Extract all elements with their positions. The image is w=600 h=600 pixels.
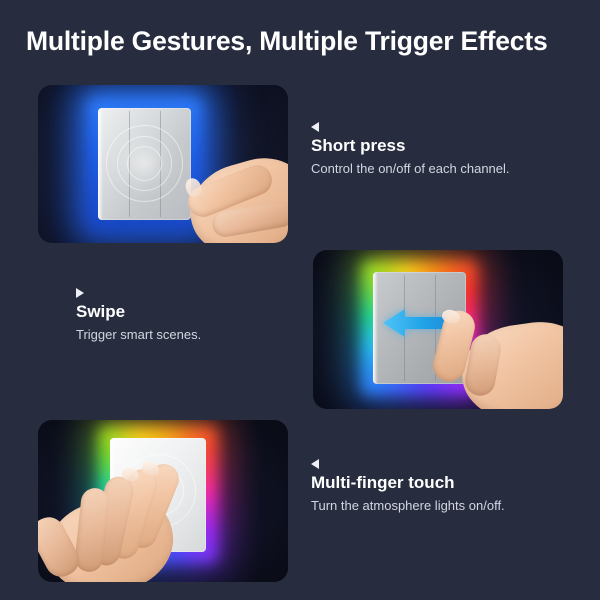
hand-whole <box>42 450 232 582</box>
feature-image-multi-finger-touch <box>38 420 288 582</box>
caption-multi-finger-touch: Multi-finger touch Turn the atmosphere l… <box>311 459 505 513</box>
feature-image-swipe <box>313 250 563 409</box>
caption-title: Swipe <box>76 302 201 322</box>
caption-title: Multi-finger touch <box>311 473 505 493</box>
caption-description: Control the on/off of each channel. <box>311 161 510 176</box>
caption-description: Trigger smart scenes. <box>76 327 201 342</box>
caption-swipe: Swipe Trigger smart scenes. <box>76 288 201 342</box>
triangle-left-icon <box>311 122 319 132</box>
page-title: Multiple Gestures, Multiple Trigger Effe… <box>26 26 548 57</box>
switch-scene-swipe <box>313 250 563 409</box>
hand-single-finger <box>416 288 563 409</box>
promo-page: Multiple Gestures, Multiple Trigger Effe… <box>0 0 600 600</box>
caption-description: Turn the atmosphere lights on/off. <box>311 498 505 513</box>
caption-title: Short press <box>311 136 510 156</box>
switch-scene-short-press <box>38 85 288 243</box>
switch-scene-multi-finger <box>38 420 288 582</box>
caption-short-press: Short press Control the on/off of each c… <box>311 122 510 176</box>
triangle-right-icon <box>76 288 84 298</box>
triangle-left-icon <box>311 459 319 469</box>
hand-single-finger <box>138 140 288 243</box>
feature-image-short-press <box>38 85 288 243</box>
